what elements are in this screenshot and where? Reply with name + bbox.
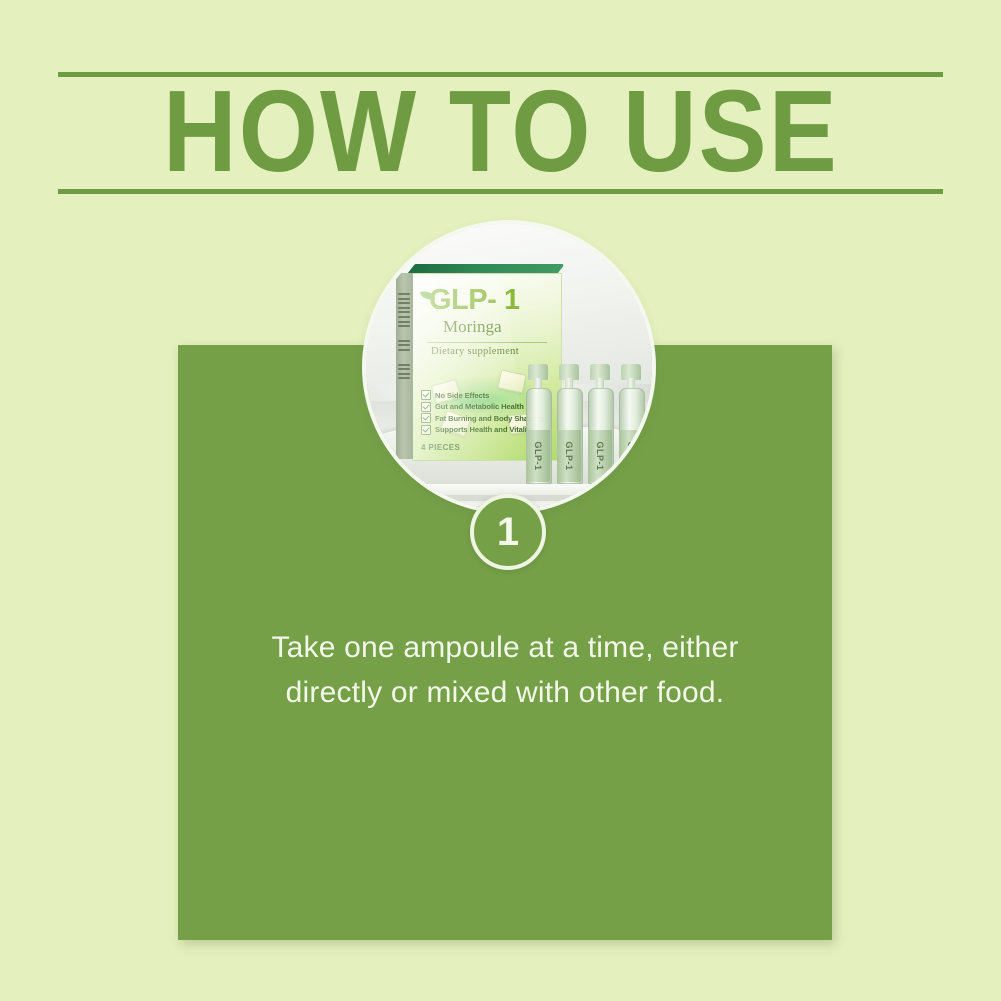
ampoule-label-text: GLP-1 (626, 441, 636, 470)
ampoule-label: GLP-1 (526, 430, 550, 482)
ampoule: GLP-1 (526, 364, 550, 482)
ampoule-label-text: GLP-1 (595, 441, 605, 470)
product-category-label: Dietary supplement (431, 346, 519, 357)
product-brand-subtitle: Moringa (443, 317, 502, 337)
ampoule: GLP-1 (557, 364, 581, 482)
header-block: HOW TO USE (58, 72, 943, 194)
benefit-label: Gut and Metabolic Health (435, 402, 524, 411)
ampoule-label: GLP-1 (619, 430, 643, 482)
ampoule-label-text: GLP-1 (533, 441, 543, 470)
infographic-canvas: HOW TO USE Take one ampoule at a time, e… (0, 0, 1001, 1001)
ampoule: GLP-1 (619, 364, 643, 482)
ampoule: GLP-1 (588, 364, 612, 482)
benefit-label: No Side Effects (435, 391, 489, 400)
product-brand-divider (427, 342, 547, 343)
product-box-side-text-lines (398, 293, 410, 382)
ampoule-group: GLP-1 GLP-1 GLP-1 GLP-1 (526, 354, 644, 482)
product-image-circle: GLP- 1 Moringa Dietary supplement No Sid… (366, 224, 652, 510)
check-icon (421, 402, 431, 412)
page-title: HOW TO USE (58, 82, 943, 180)
step-number-badge: 1 (470, 494, 546, 570)
check-icon (421, 390, 431, 400)
header-rule-bottom (58, 189, 943, 194)
page-title-text: HOW TO USE (163, 73, 839, 189)
product-brand-name: GLP- 1 (429, 284, 519, 317)
ampoule-label-text: GLP-1 (564, 441, 574, 470)
ampoule-label: GLP-1 (588, 430, 612, 482)
check-icon (421, 425, 431, 435)
check-icon (421, 413, 431, 423)
benefit-label: Supports Health and Vitality (435, 425, 533, 434)
product-pieces-count: 4 PIECES (421, 443, 460, 452)
instruction-text: Take one ampoule at a time, either direc… (238, 625, 772, 715)
ampoule-label: GLP-1 (557, 430, 581, 482)
product-box-side-face (396, 273, 414, 459)
